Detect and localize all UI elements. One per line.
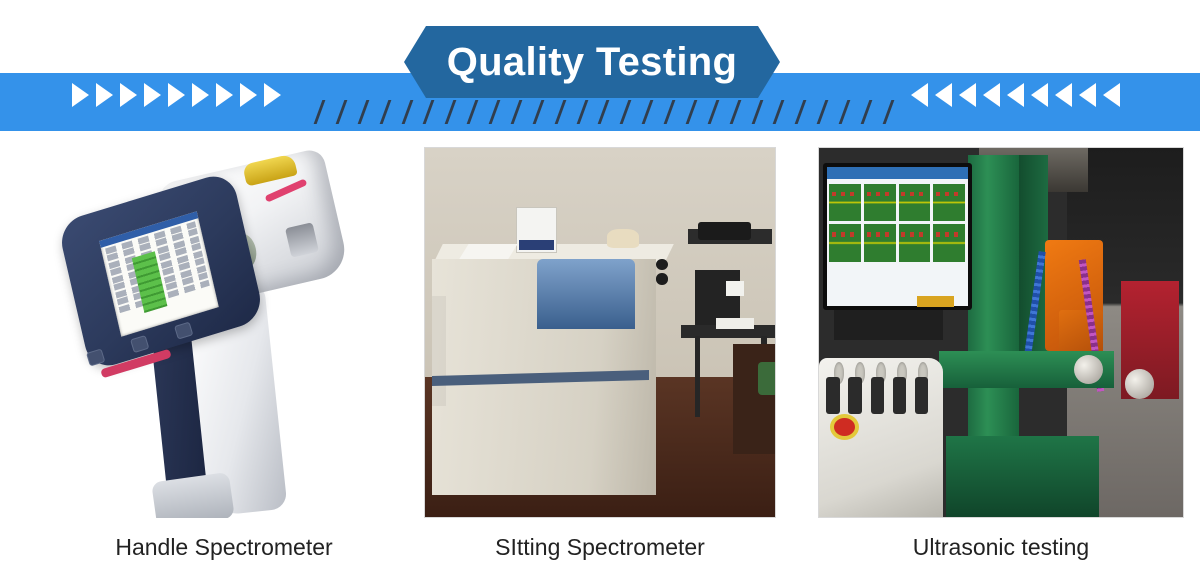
triangle-left-icon — [1055, 83, 1072, 107]
right-arrow-group — [911, 79, 1120, 111]
tick-mark — [423, 100, 435, 124]
tick-mark — [773, 100, 785, 124]
tick-marks — [318, 100, 890, 126]
device-button — [86, 348, 105, 366]
tick-mark — [817, 100, 829, 124]
tick-mark — [489, 100, 501, 124]
tick-mark — [511, 100, 523, 124]
tick-mark — [357, 100, 369, 124]
tick-mark — [554, 100, 566, 124]
triangle-left-icon — [983, 83, 1000, 107]
banner: Quality Testing — [0, 0, 1200, 133]
screen-toolbar — [827, 167, 968, 180]
ultrasonic-testing-illustration — [819, 148, 1183, 517]
triangle-right-icon — [192, 83, 209, 107]
monitor-label — [917, 296, 953, 307]
tick-mark — [729, 100, 741, 124]
tick-mark — [379, 100, 391, 124]
lab-monitor — [698, 222, 751, 240]
triangle-right-icon — [168, 83, 185, 107]
left-arrow-group — [72, 79, 281, 111]
roller-wheel — [1074, 355, 1103, 384]
tick-mark — [598, 100, 610, 124]
ultrasonic-testing-photo — [818, 147, 1184, 518]
device-button — [130, 335, 149, 353]
tick-mark — [664, 100, 676, 124]
tick-mark — [445, 100, 457, 124]
toggle-switch — [915, 377, 928, 414]
triangle-right-icon — [144, 83, 161, 107]
floor-bin — [758, 362, 777, 395]
inspection-monitor — [823, 163, 972, 311]
triangle-right-icon — [72, 83, 89, 107]
waveform-cell — [864, 184, 896, 222]
tick-mark — [642, 100, 654, 124]
tick-mark — [576, 100, 588, 124]
triangle-left-icon — [959, 83, 976, 107]
toggle-switch — [871, 377, 884, 414]
emergency-stop-button — [830, 414, 859, 440]
tick-mark — [532, 100, 544, 124]
waveform-cell — [899, 184, 931, 222]
gallery-item-handle-spectrometer[interactable]: Handle Spectrometer — [48, 147, 400, 562]
triangle-right-icon — [120, 83, 137, 107]
screen-waveform-grid — [829, 184, 965, 262]
triangle-right-icon — [96, 83, 113, 107]
cabinet-panel-seam — [432, 296, 446, 407]
machine-knob — [656, 259, 668, 270]
quality-testing-page: Quality Testing — [0, 0, 1200, 574]
green-frame-base — [946, 436, 1099, 517]
sitting-spectrometer-photo — [424, 147, 776, 518]
desk-papers — [716, 318, 755, 329]
lab-chair — [733, 344, 775, 455]
tick-mark — [401, 100, 413, 124]
waveform-cell — [829, 224, 861, 262]
triangle-left-icon — [1103, 83, 1120, 107]
toggle-switch — [848, 377, 861, 414]
desk-clutter — [607, 229, 639, 247]
loose-paper — [459, 244, 517, 259]
gallery-item-caption: Ultrasonic testing — [818, 534, 1184, 562]
console-switches — [826, 377, 928, 414]
triangle-left-icon — [1079, 83, 1096, 107]
toggle-switch — [893, 377, 906, 414]
triangle-left-icon — [1031, 83, 1048, 107]
triangle-right-icon — [216, 83, 233, 107]
triangle-left-icon — [911, 83, 928, 107]
green-frame-column-rear — [1019, 155, 1048, 384]
manual-binder — [516, 207, 557, 253]
tick-mark — [620, 100, 632, 124]
tick-mark — [686, 100, 698, 124]
waveform-cell — [864, 224, 896, 262]
tick-mark — [336, 100, 348, 124]
page-title: Quality Testing — [447, 42, 737, 82]
monitor-stand — [834, 310, 943, 340]
gallery-item-ultrasonic-testing[interactable]: Ultrasonic testing — [818, 147, 1184, 562]
tick-mark — [795, 100, 807, 124]
inspection-screen — [827, 167, 968, 307]
desk-leg — [695, 336, 701, 417]
waveform-cell — [829, 184, 861, 222]
roller-wheel — [1125, 369, 1154, 398]
device-nose — [151, 472, 235, 518]
gallery: Handle Spectrometer — [0, 147, 1200, 567]
waveform-cell — [933, 224, 965, 262]
tick-mark — [861, 100, 873, 124]
triangle-left-icon — [935, 83, 952, 107]
binder-spine — [519, 240, 554, 250]
triangle-right-icon — [240, 83, 257, 107]
gallery-item-caption: Handle Spectrometer — [48, 534, 400, 562]
handle-spectrometer-illustration — [48, 147, 400, 518]
toggle-switch — [826, 377, 839, 414]
tick-mark — [467, 100, 479, 124]
handle-spectrometer-photo — [48, 147, 400, 518]
tick-mark — [839, 100, 851, 124]
spectrometer-blue-hood — [537, 259, 635, 329]
gallery-item-caption: SItting Spectrometer — [424, 534, 776, 562]
gallery-item-sitting-spectrometer[interactable]: SItting Spectrometer — [424, 147, 776, 562]
triangle-right-icon — [264, 83, 281, 107]
tick-mark — [707, 100, 719, 124]
machine-knob — [656, 273, 668, 284]
waveform-cell — [899, 224, 931, 262]
waveform-cell — [933, 184, 965, 222]
equipment-label — [726, 281, 744, 296]
sitting-spectrometer-illustration — [425, 148, 775, 517]
green-frame-column — [968, 155, 1019, 443]
title-badge: Quality Testing — [404, 26, 780, 98]
tick-mark — [751, 100, 763, 124]
triangle-left-icon — [1007, 83, 1024, 107]
